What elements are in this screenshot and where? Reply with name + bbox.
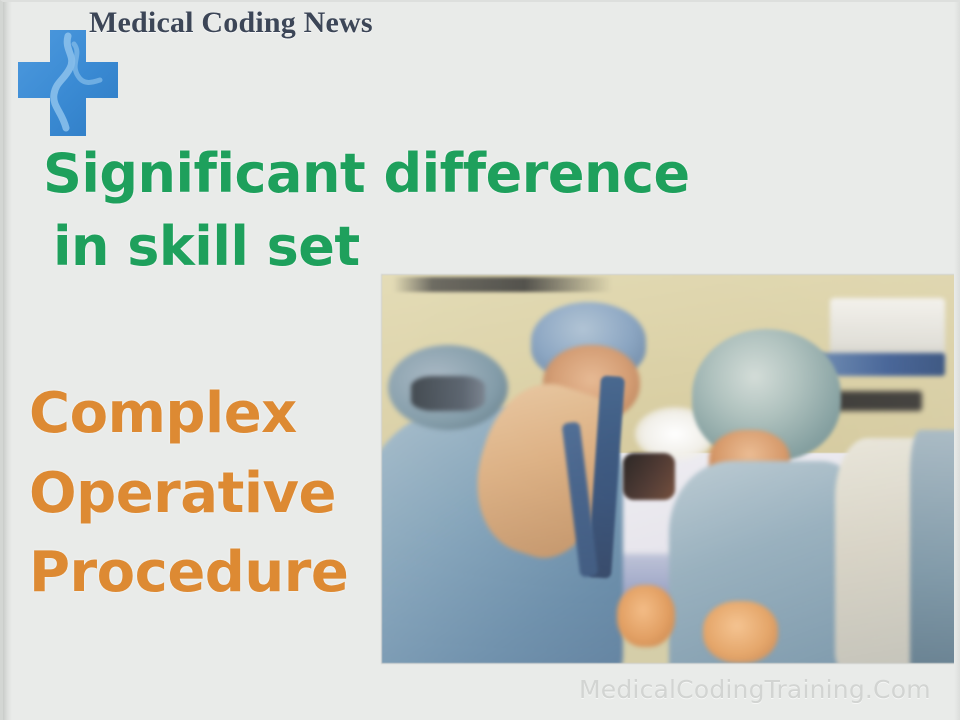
subheadline-line-3: Procedure <box>29 533 348 613</box>
slide-canvas: Medical Coding News Significant differen… <box>0 0 960 720</box>
brand-title: Medical Coding News <box>89 6 373 40</box>
right-edge-shading <box>954 2 960 720</box>
photo-soft-veil <box>382 275 956 663</box>
medical-cross-icon <box>12 24 124 136</box>
headline-line-1: Significant difference <box>43 142 690 205</box>
headline: Significant difference in skill set <box>43 138 690 284</box>
footer-website: MedicalCodingTraining.Com <box>579 675 931 704</box>
left-edge-shading <box>3 2 12 720</box>
subheadline-line-1: Complex <box>29 374 348 454</box>
surgery-photo <box>382 275 956 663</box>
subheadline: Complex Operative Procedure <box>29 374 348 613</box>
subheadline-line-2: Operative <box>29 454 348 534</box>
headline-line-2: in skill set <box>43 211 690 284</box>
